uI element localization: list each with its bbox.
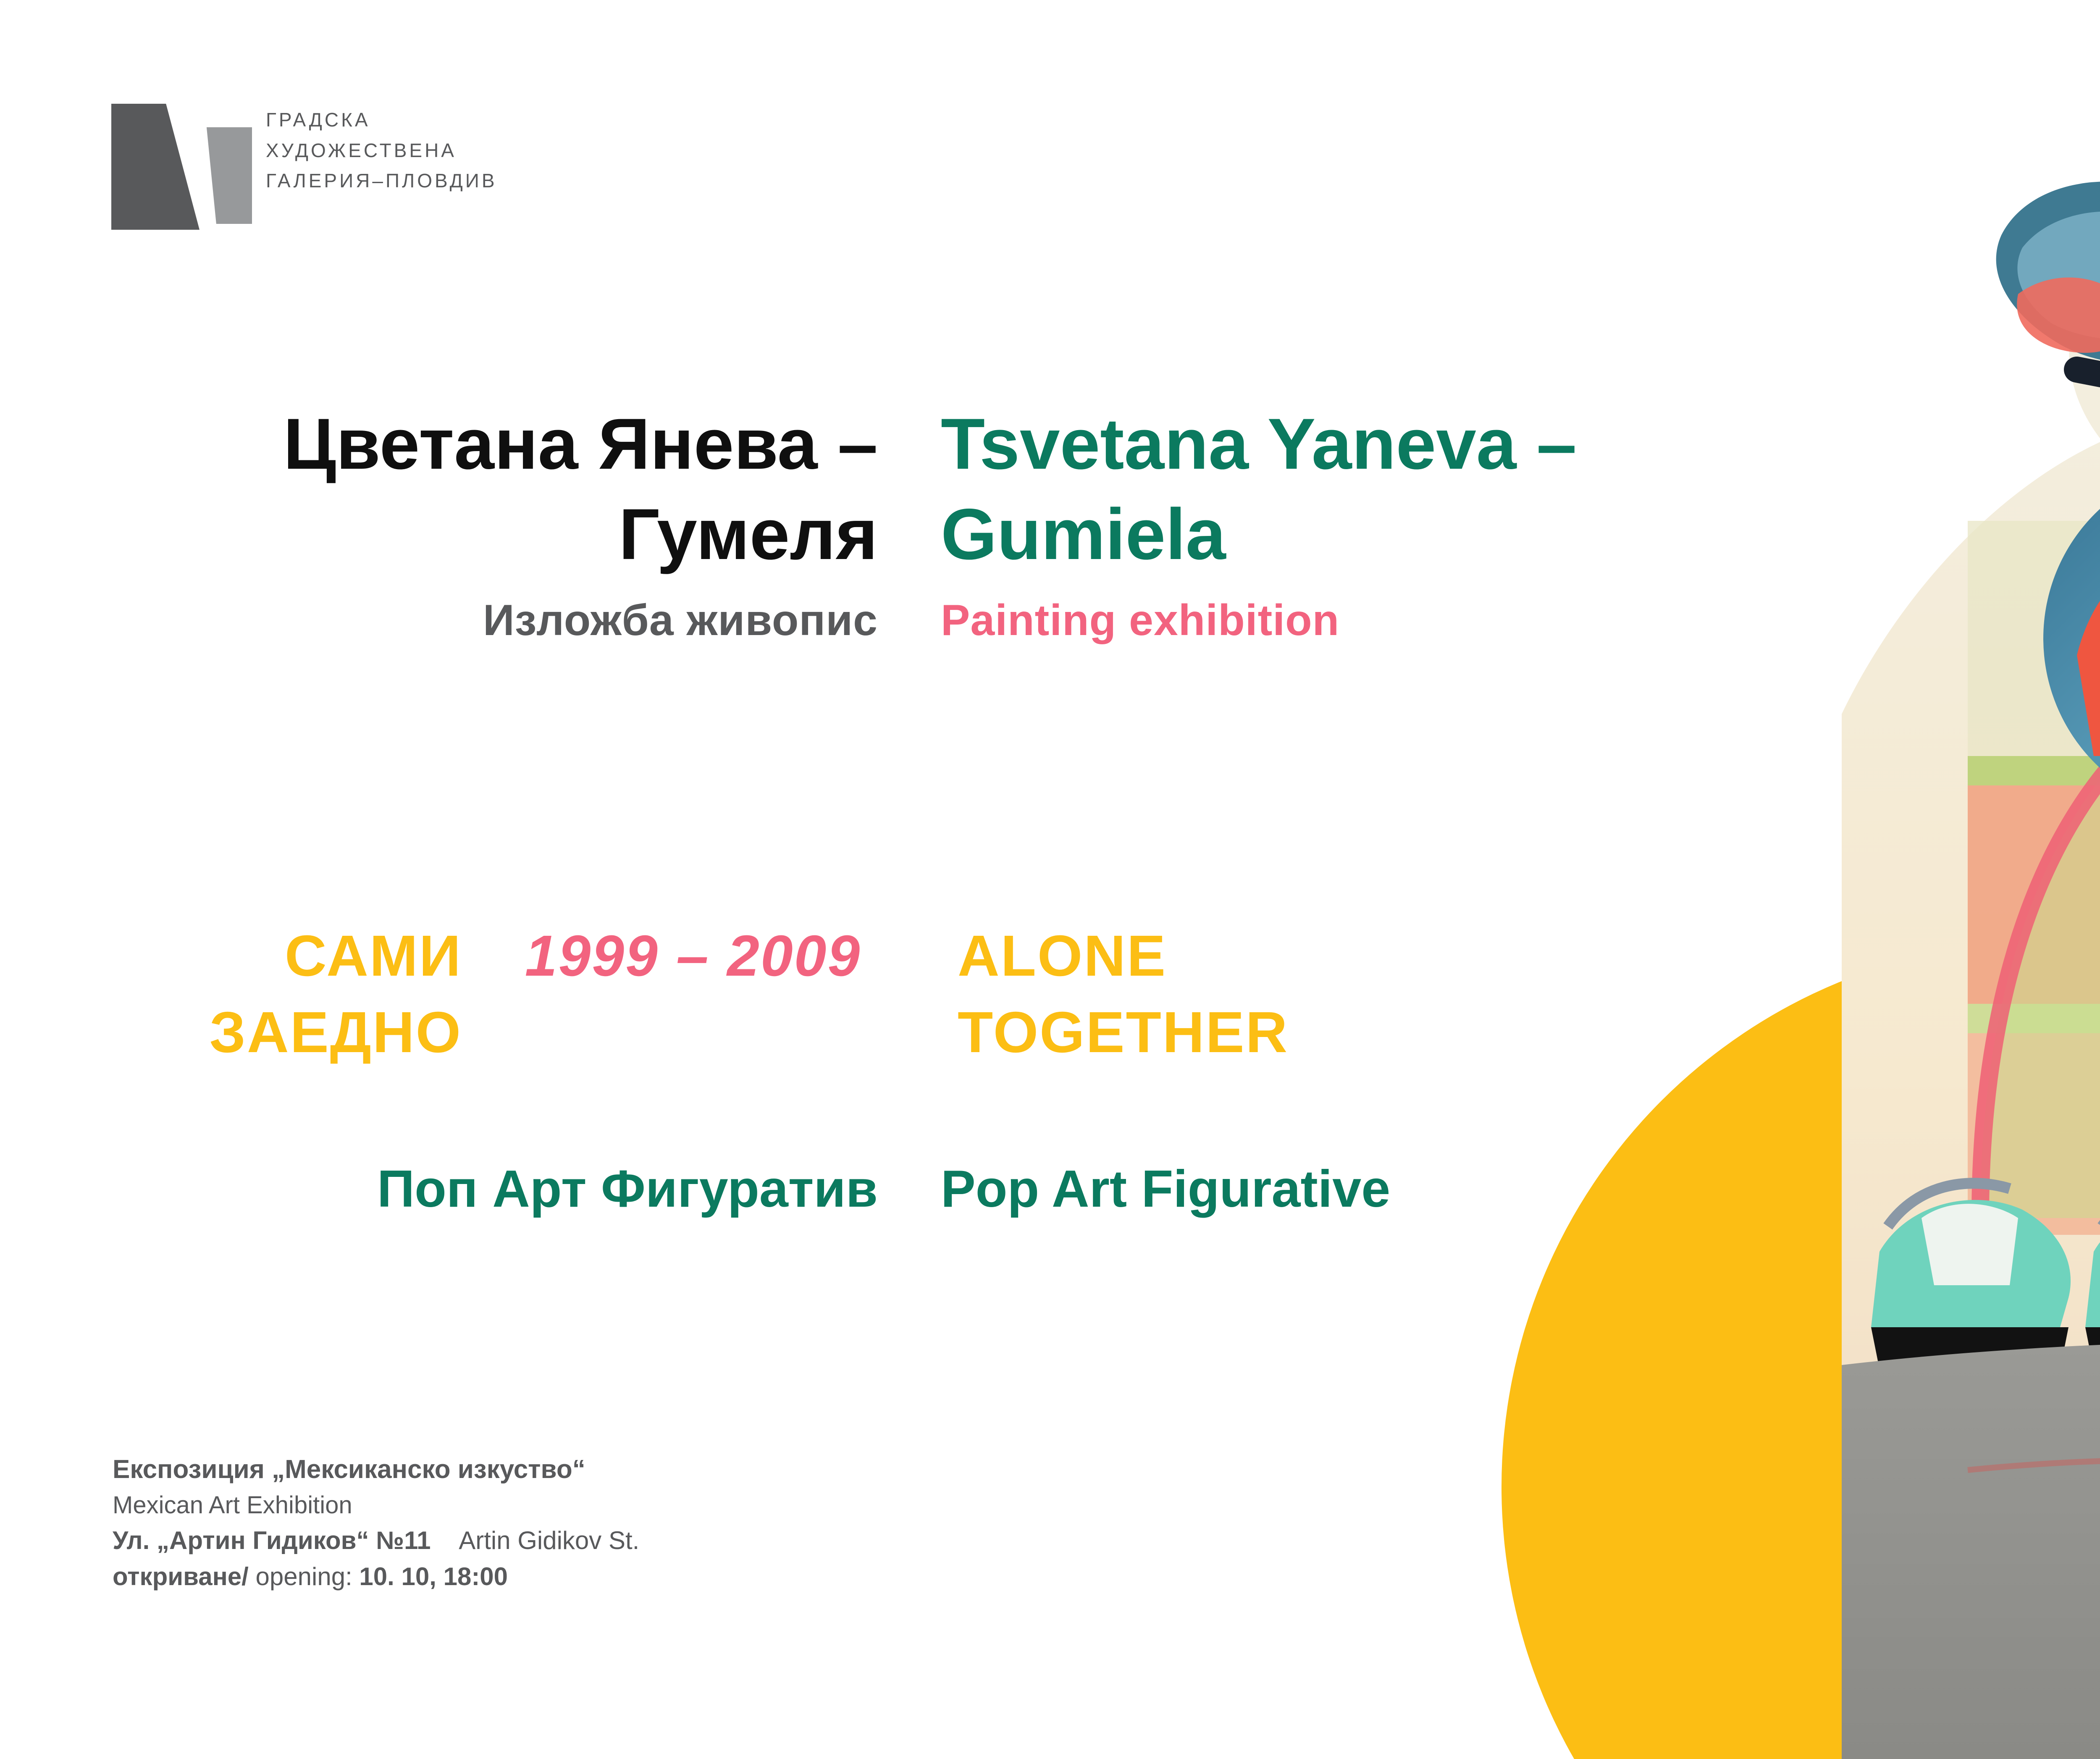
year-range: 1999 – 2009 [462,918,924,994]
opening-label-bulgarian: откриване/ [113,1562,249,1591]
venue-address-bulgarian: Ул. „Артин Гидиков“ №11 [113,1526,431,1554]
word-together-bulgarian: ЗАЕДНО [0,994,462,1071]
logo-line-2: ХУДОЖЕСТВЕНА [266,135,497,166]
title-column-bulgarian: Цветана Янева – Гумеля Изложба живопис [0,399,916,646]
word-alone-english: ALONE [924,918,1428,994]
alone-together-band: САМИ 1999 – 2009 ALONE ЗАЕДНО TOGETHER [0,918,1848,1071]
opening-label-english: opening: [249,1562,360,1591]
popart-style-line: Поп Арт Фигуратив Pop Art Figurative [0,1159,1974,1219]
band-row-first: САМИ 1999 – 2009 ALONE [0,918,1848,994]
popart-english: Pop Art Figurative [916,1159,1924,1219]
artist-name-bulgarian: Цветана Янева – Гумеля [0,399,878,580]
gallery-logo-mark-icon [107,95,246,233]
logo-shape-dark [111,104,199,230]
title-column-english: Tsvetana Yaneva – Gumiela Painting exhib… [916,399,1848,646]
title-block: Цветана Янева – Гумеля Изложба живопис T… [0,399,1848,646]
artist-name-english: Tsvetana Yaneva – Gumiela [941,399,1848,580]
word-alone-bulgarian: САМИ [0,918,462,994]
painting-artwork: First [1842,0,2100,1759]
logo-shape-light [204,127,252,224]
artwork-svg: First [1842,0,2100,1759]
logo-line-3: ГАЛЕРИЯ–ПЛОВДИВ [266,165,497,196]
exposition-title-english: Mexican Art Exhibition [113,1488,639,1523]
word-together-english: TOGETHER [924,994,1428,1071]
footer-details: Експозиция „Мексиканско изкуство“ Mexica… [113,1451,639,1594]
gallery-logo-text: ГРАДСКА ХУДОЖЕСТВЕНА ГАЛЕРИЯ–ПЛОВДИВ [266,95,497,196]
popart-bulgarian: Поп Арт Фигуратив [0,1159,916,1219]
logo-line-1: ГРАДСКА [266,105,497,135]
opening-datetime: 10. 10, 18:00 [359,1562,508,1591]
exhibition-poster: First [0,0,2100,1759]
exhibition-subtitle-english: Painting exhibition [941,596,1848,646]
band-row-second: ЗАЕДНО TOGETHER [0,994,1848,1071]
opening-info: откриване/ opening: 10. 10, 18:00 [113,1559,639,1594]
venue-address-english: Artin Gidikov St. [459,1526,639,1554]
gallery-logo: ГРАДСКА ХУДОЖЕСТВЕНА ГАЛЕРИЯ–ПЛОВДИВ [107,95,497,233]
exposition-title-bulgarian: Експозиция „Мексиканско изкуство“ [113,1451,639,1488]
exhibition-subtitle-bulgarian: Изложба живопис [0,596,878,646]
venue-address: Ул. „Артин Гидиков“ №11 Artin Gidikov St… [113,1523,639,1558]
